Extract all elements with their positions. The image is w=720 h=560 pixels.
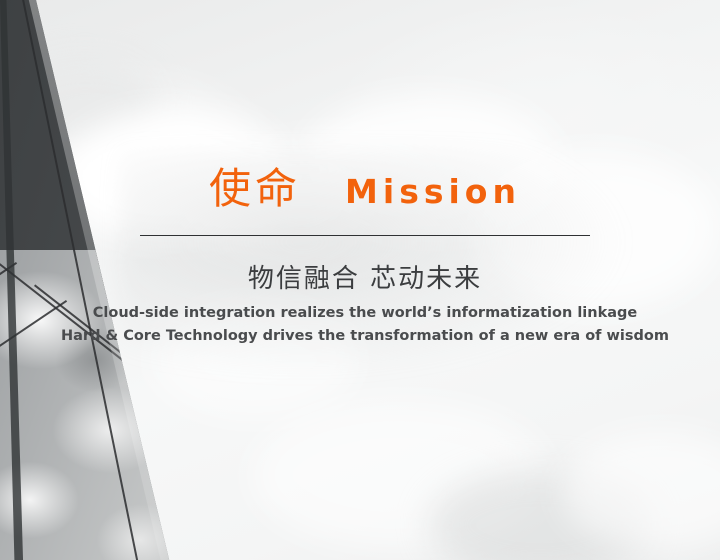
tagline-line-2: Hard & Core Technology drives the transf… <box>40 325 690 348</box>
banner-heading: 使命 Mission <box>140 168 590 210</box>
banner-content: 使命 Mission 物信融合 芯动未来 Cloud-side integrat… <box>0 0 720 560</box>
heading-divider <box>140 235 590 236</box>
subtitle-chinese: 物信融合 芯动未来 <box>140 258 590 295</box>
tagline-line-1: Cloud-side integration realizes the worl… <box>40 302 690 325</box>
mission-banner: 使命 Mission 物信融合 芯动未来 Cloud-side integrat… <box>0 0 720 560</box>
tagline-block: Cloud-side integration realizes the worl… <box>40 302 690 348</box>
heading-english: Mission <box>345 175 521 208</box>
heading-chinese: 使命 <box>209 168 301 210</box>
